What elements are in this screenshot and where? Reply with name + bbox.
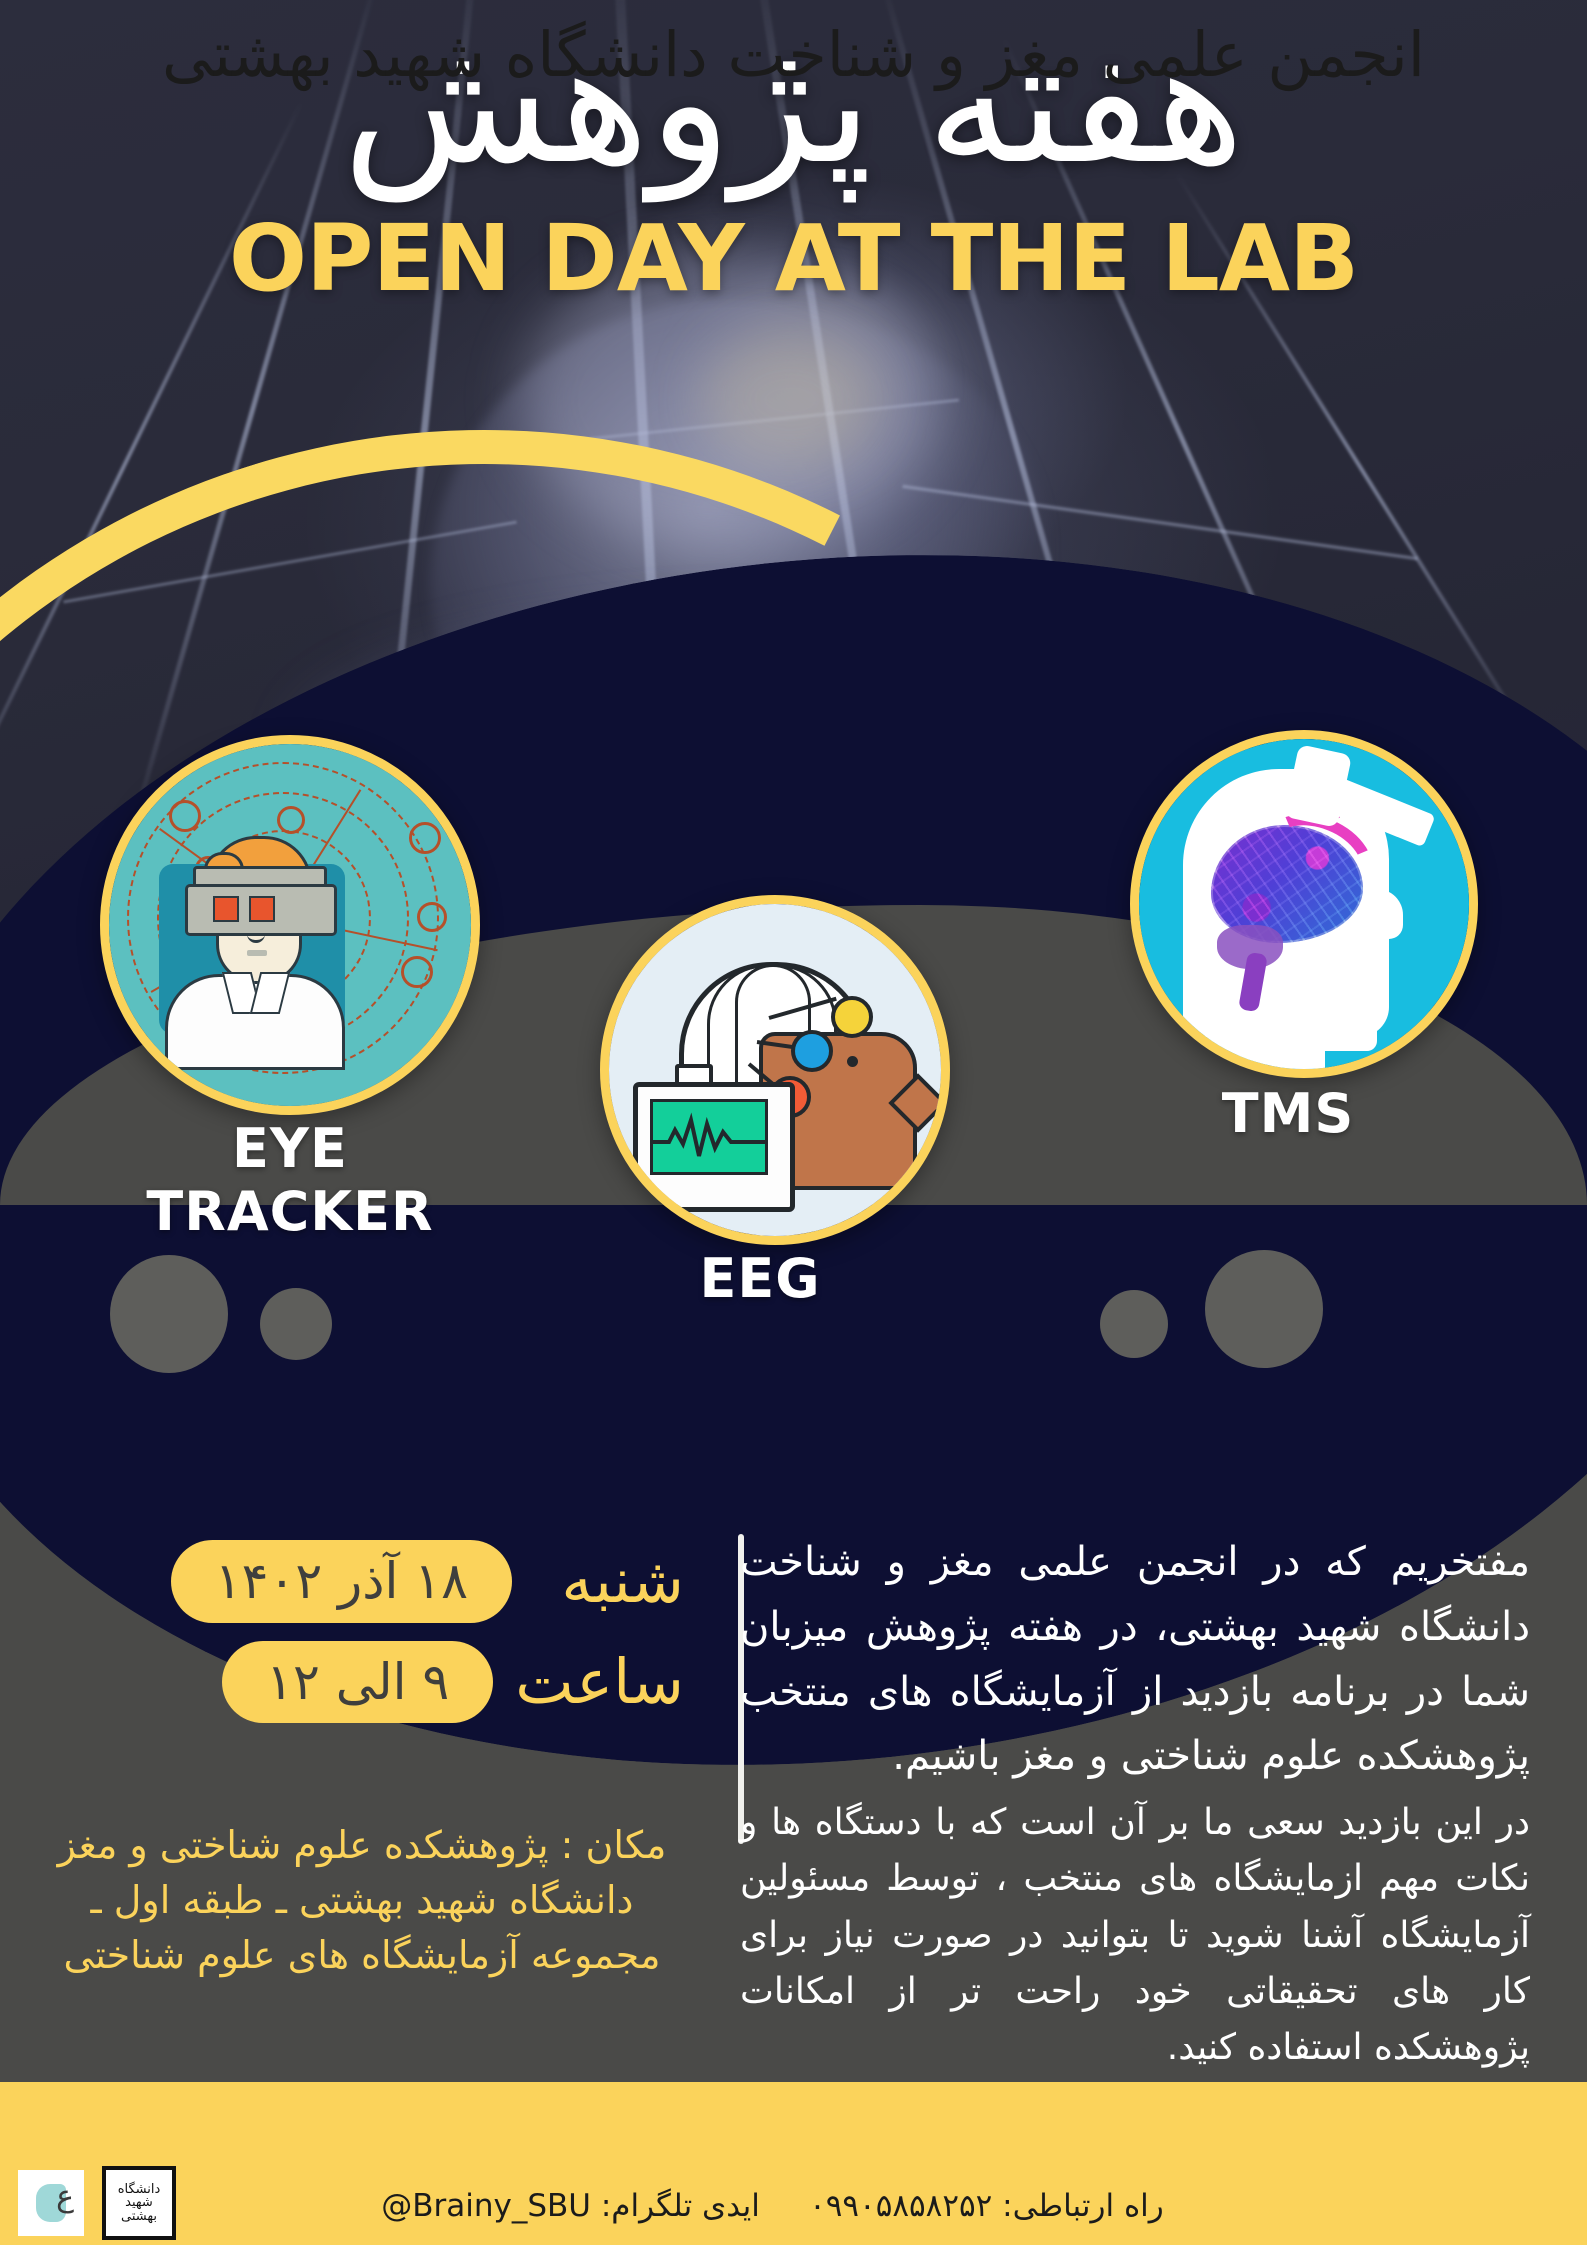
- decorative-dot: [1100, 1290, 1168, 1358]
- eeg-icon: [600, 895, 950, 1245]
- contact-label: راه ارتباطی:: [1002, 2188, 1164, 2224]
- poster-root: هفته پژوهش OPEN DAY AT THE LAB: [0, 0, 1587, 2245]
- feature-eye-tracker[interactable]: EYE TRACKER: [100, 735, 480, 1115]
- organization-name: انجمن علمی مغز و شناخت دانشگاه شهید بهشت…: [0, 16, 1587, 94]
- decorative-dot: [110, 1255, 228, 1373]
- telegram-label: ایدی تلگرام:: [601, 2188, 760, 2224]
- feature-label-tms: TMS: [1098, 1082, 1478, 1145]
- feature-label-eye-tracker: EYE TRACKER: [100, 1117, 480, 1243]
- decorative-dot: [1205, 1250, 1323, 1368]
- page-title-en: OPEN DAY AT THE LAB: [0, 213, 1587, 305]
- feature-tms[interactable]: TMS: [1098, 730, 1478, 1078]
- eeg-waveform-icon: [653, 1102, 765, 1172]
- event-day-value: ۱۸ آذر ۱۴۰۲: [171, 1540, 512, 1623]
- description-paragraph-2: در این بازدید سعی ما بر آن است که با دست…: [740, 1795, 1530, 2076]
- brain-logo-icon: ع: [18, 2170, 84, 2236]
- feature-eeg[interactable]: EEG: [570, 895, 950, 1245]
- sbu-university-logo-icon: دانشگاه شهید بهشتی: [102, 2166, 176, 2240]
- contact-row: راه ارتباطی: ۰۹۹۰۵۸۵۸۲۵۲ ایدی تلگرام: @B…: [0, 2188, 1545, 2224]
- event-time-label: ساعت: [515, 1648, 684, 1716]
- event-day-label: شنبه: [534, 1547, 684, 1615]
- footer-logos: دانشگاه شهید بهشتی ع: [18, 2166, 176, 2240]
- sbu-logo-text: دانشگاه شهید بهشتی: [106, 2183, 172, 2224]
- event-day-row: شنبه ۱۸ آذر ۱۴۰۲: [44, 1540, 684, 1623]
- description-block: مفتخریم که در انجمن علمی مغز و شناخت دان…: [740, 1530, 1530, 2076]
- telegram-handle[interactable]: @Brainy_SBU: [381, 2188, 591, 2224]
- event-location: مکان : پژوهشکده علوم شناختی و مغز دانشگا…: [42, 1818, 682, 1983]
- feature-label-eeg: EEG: [570, 1247, 950, 1310]
- event-time-row: ساعت ۹ الی ۱۲: [44, 1641, 684, 1724]
- tms-icon: [1130, 730, 1478, 1078]
- event-time-value: ۹ الی ۱۲: [222, 1641, 493, 1724]
- event-details-block: شنبه ۱۸ آذر ۱۴۰۲ ساعت ۹ الی ۱۲: [44, 1540, 684, 1741]
- eye-tracker-icon: [100, 735, 480, 1115]
- neuron-haze: [700, 330, 880, 470]
- decorative-dot: [260, 1288, 332, 1360]
- contact-phone: ۰۹۹۰۵۸۵۸۲۵۲: [809, 2188, 992, 2224]
- description-paragraph-1: مفتخریم که در انجمن علمی مغز و شناخت دان…: [740, 1530, 1530, 1789]
